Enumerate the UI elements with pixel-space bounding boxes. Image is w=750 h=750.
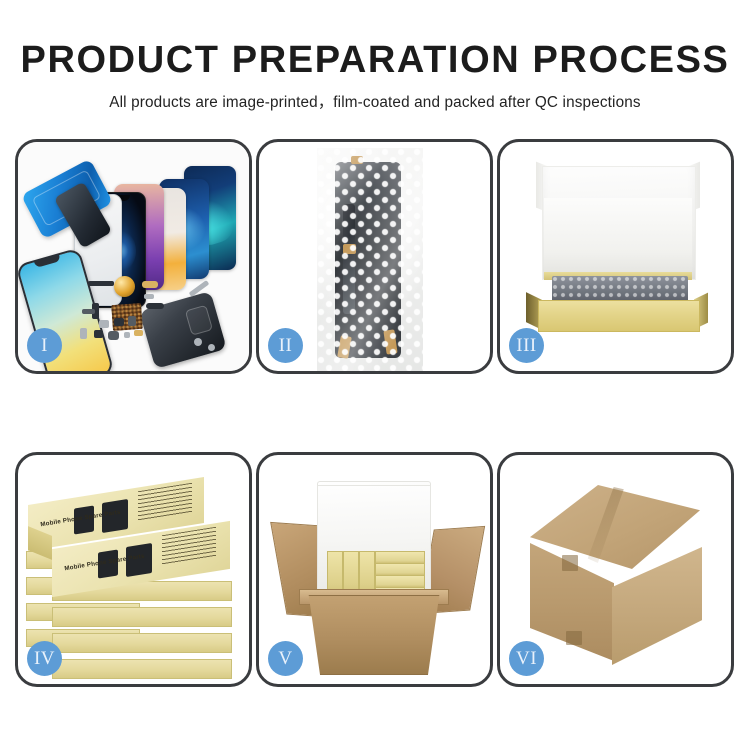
kraft-box-front bbox=[538, 300, 700, 332]
spare-part bbox=[99, 320, 109, 328]
screw bbox=[194, 338, 202, 346]
logic-board-chip bbox=[111, 303, 143, 331]
stacked-box bbox=[52, 633, 232, 653]
spare-part bbox=[142, 281, 158, 288]
step-badge-6: VI bbox=[509, 641, 544, 676]
spare-part bbox=[114, 318, 124, 326]
spare-part bbox=[80, 328, 87, 339]
spare-part bbox=[144, 294, 154, 299]
process-step-card-2: II Each part individually wrapped in bub… bbox=[256, 139, 493, 374]
process-step-card-6: VI Outer carton sealed and ready for shi… bbox=[497, 452, 734, 687]
step-badge-2: II bbox=[268, 328, 303, 363]
step-badge-1: I bbox=[27, 328, 62, 363]
flex-cable bbox=[146, 303, 164, 309]
stacked-box bbox=[52, 607, 232, 627]
speaker-component bbox=[114, 276, 135, 297]
carton-tape-mark bbox=[562, 555, 578, 571]
process-step-card-1: I Mobile phone LCD screens, glass protec… bbox=[15, 139, 252, 374]
plastic-sheen bbox=[317, 148, 423, 371]
process-step-card-5: V Stacked boxes loaded into foam box ins… bbox=[256, 452, 493, 687]
spare-part bbox=[82, 309, 95, 314]
bubble-wrap-bag bbox=[317, 148, 423, 371]
page-title: PRODUCT PREPARATION PROCESS bbox=[0, 0, 750, 81]
carton-tape-mark bbox=[566, 631, 582, 645]
carton-body bbox=[303, 595, 445, 675]
spare-part bbox=[108, 331, 119, 340]
step-badge-4: IV bbox=[27, 641, 62, 676]
screw bbox=[208, 344, 215, 351]
page-header: PRODUCT PREPARATION PROCESS All products… bbox=[0, 0, 750, 128]
step-badge-3: III bbox=[509, 328, 544, 363]
spare-part bbox=[128, 316, 136, 326]
spare-part bbox=[124, 332, 130, 338]
page-subtitle: All products are image-printed，film-coat… bbox=[0, 81, 750, 112]
foam-liner bbox=[544, 198, 692, 276]
process-step-grid: I Mobile phone LCD screens, glass protec… bbox=[15, 139, 735, 687]
process-step-card-4: Mobile Phone Spare Parts Mobile Phone Sp… bbox=[15, 452, 252, 687]
spare-part bbox=[88, 281, 114, 286]
spare-part bbox=[134, 330, 143, 336]
spare-part bbox=[94, 330, 103, 338]
stacked-box bbox=[52, 659, 232, 679]
process-step-card-3: III Wrapped parts placed into foam-lined… bbox=[497, 139, 734, 374]
step-badge-5: V bbox=[268, 641, 303, 676]
